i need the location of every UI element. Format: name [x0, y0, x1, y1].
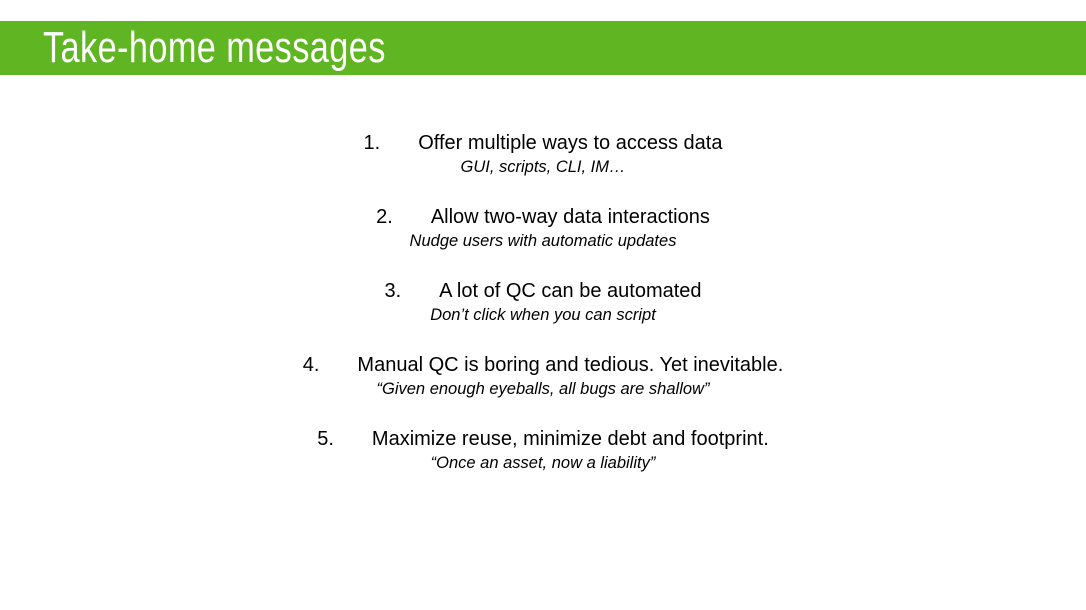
title-banner: Take-home messages — [0, 21, 1086, 75]
list-item-text: Allow two-way data interactions — [431, 206, 710, 228]
page-title: Take-home messages — [43, 26, 386, 70]
list-item: 4.Manual QC is boring and tedious. Yet i… — [0, 353, 1086, 401]
list-item-main-line: 3.A lot of QC can be automated — [0, 279, 1086, 304]
list-item-subtitle: Nudge users with automatic updates — [0, 230, 1086, 253]
list-item-main-line: 2.Allow two-way data interactions — [0, 205, 1086, 230]
list-item-text: Maximize reuse, minimize debt and footpr… — [372, 428, 769, 450]
list-item-main-line: 1.Offer multiple ways to access data — [0, 131, 1086, 156]
list-item-subtitle: Don’t click when you can script — [0, 304, 1086, 327]
list-item: 3.A lot of QC can be automated Don’t cli… — [0, 279, 1086, 327]
list-item-number: 4. — [303, 353, 320, 378]
slide: Take-home messages 1.Offer multiple ways… — [0, 0, 1086, 610]
list-item-subtitle: “Once an asset, now a liability” — [0, 452, 1086, 475]
list-item-number: 1. — [364, 131, 381, 156]
list-item-text: A lot of QC can be automated — [439, 280, 701, 302]
list-item-text: Offer multiple ways to access data — [418, 132, 722, 154]
list-item-number: 3. — [384, 279, 401, 304]
list-item: 1.Offer multiple ways to access data GUI… — [0, 131, 1086, 179]
list-item: 5.Maximize reuse, minimize debt and foot… — [0, 427, 1086, 475]
list-item-text: Manual QC is boring and tedious. Yet ine… — [357, 354, 783, 376]
list-item-main-line: 4.Manual QC is boring and tedious. Yet i… — [0, 353, 1086, 378]
list-item-subtitle: “Given enough eyeballs, all bugs are sha… — [0, 378, 1086, 401]
list-item-subtitle: GUI, scripts, CLI, IM… — [0, 156, 1086, 179]
list-item-number: 5. — [317, 427, 334, 452]
list-item: 2.Allow two-way data interactions Nudge … — [0, 205, 1086, 253]
list-item-main-line: 5.Maximize reuse, minimize debt and foot… — [0, 427, 1086, 452]
take-home-message-list: 1.Offer multiple ways to access data GUI… — [0, 131, 1086, 475]
list-item-number: 2. — [376, 205, 393, 230]
